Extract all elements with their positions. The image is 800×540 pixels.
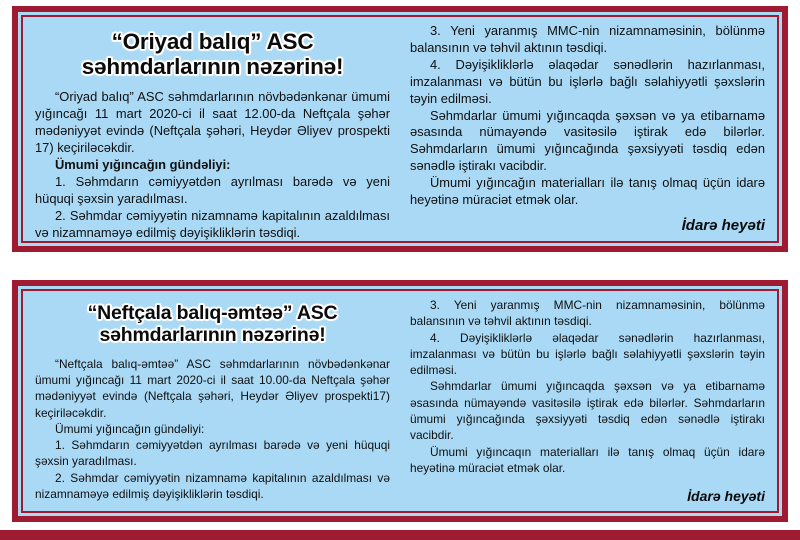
title-line-1: “Neftçala balıq-əmtəə” ASC — [88, 302, 338, 324]
announcement-panel-oriyad-baliq: “Oriyad balıq” ASC səhmdarlarının nəzəri… — [12, 6, 788, 252]
panel-inner-border: “Oriyad balıq” ASC səhmdarlarının nəzəri… — [21, 15, 779, 243]
left-column: “Neftçala balıq-əmtəə” ASC səhmdarlarını… — [23, 291, 400, 511]
intro-paragraph: “Neftçala balıq-əmtəə” ASC səhmdarlarını… — [35, 356, 390, 421]
two-column-layout: “Neftçala balıq-əmtəə” ASC səhmdarlarını… — [23, 291, 777, 511]
agenda-item-1: 1. Səhmdarın cəmiyyətdən ayrılması barəd… — [35, 437, 390, 470]
participation-paragraph: Səhmdarlar ümumi yığıncaqda şəxsən və ya… — [410, 378, 765, 443]
right-column: 3. Yeni yaranmış MMC-nin nizamnaməsinin,… — [400, 291, 777, 511]
agenda-heading: Ümumi yığıncağın gündəliyi: — [35, 157, 390, 174]
participation-paragraph: Səhmdarlar ümumi yığıncaqda şəxsən və ya… — [410, 108, 765, 176]
agenda-item-3: 3. Yeni yaranmış MMC-nin nizamnaməsinin,… — [410, 297, 765, 330]
materials-paragraph: Ümumi yığıncaqın materialları ilə tanış … — [410, 444, 765, 477]
agenda-item-4: 4. Dəyişikliklərlə əlaqədar sənədlərin h… — [410, 330, 765, 379]
page-bottom-rule — [0, 530, 800, 540]
title-line-1: “Oriyad balıq” ASC — [112, 29, 314, 54]
agenda-item-4: 4. Dəyişikliklərlə əlaqədar sənədlərin h… — [410, 57, 765, 108]
signature: İdarə heyəti — [410, 488, 765, 504]
agenda-heading: Ümumi yığıncağın gündəliyi: — [35, 421, 390, 437]
announcement-title: “Neftçala balıq-əmtəə” ASC səhmdarlarını… — [35, 303, 390, 347]
signature: İdarə heyəti — [410, 217, 765, 234]
panel-inner-border: “Neftçala balıq-əmtəə” ASC səhmdarlarını… — [21, 289, 779, 513]
agenda-item-2: 2. Səhmdar cəmiyyətin nizamnamə kapitalı… — [35, 208, 390, 242]
title-line-2: səhmdarlarının nəzərinə! — [82, 54, 344, 79]
two-column-layout: “Oriyad balıq” ASC səhmdarlarının nəzəri… — [23, 17, 777, 241]
announcement-title: “Oriyad balıq” ASC səhmdarlarının nəzəri… — [35, 29, 390, 79]
agenda-item-3: 3. Yeni yaranmış MMC-nin nizamnaməsinin,… — [410, 23, 765, 57]
title-line-2: səhmdarlarının nəzərinə! — [99, 324, 325, 346]
materials-paragraph: Ümumi yığıncağın materialları ilə tanış … — [410, 175, 765, 209]
right-column: 3. Yeni yaranmış MMC-nin nizamnaməsinin,… — [400, 17, 777, 241]
intro-paragraph: “Oriyad balıq” ASC səhmdarlarının növbəd… — [35, 89, 390, 157]
newspaper-page: “Oriyad balıq” ASC səhmdarlarının nəzəri… — [0, 0, 800, 540]
agenda-item-2: 2. Səhmdar cəmiyyətin nizamnamə kapitalı… — [35, 470, 390, 503]
agenda-item-1: 1. Səhmdarın cəmiyyətdən ayrılması barəd… — [35, 174, 390, 208]
announcement-panel-neftcala-baliq-emtee: “Neftçala balıq-əmtəə” ASC səhmdarlarını… — [12, 280, 788, 522]
left-column: “Oriyad balıq” ASC səhmdarlarının nəzəri… — [23, 17, 400, 241]
